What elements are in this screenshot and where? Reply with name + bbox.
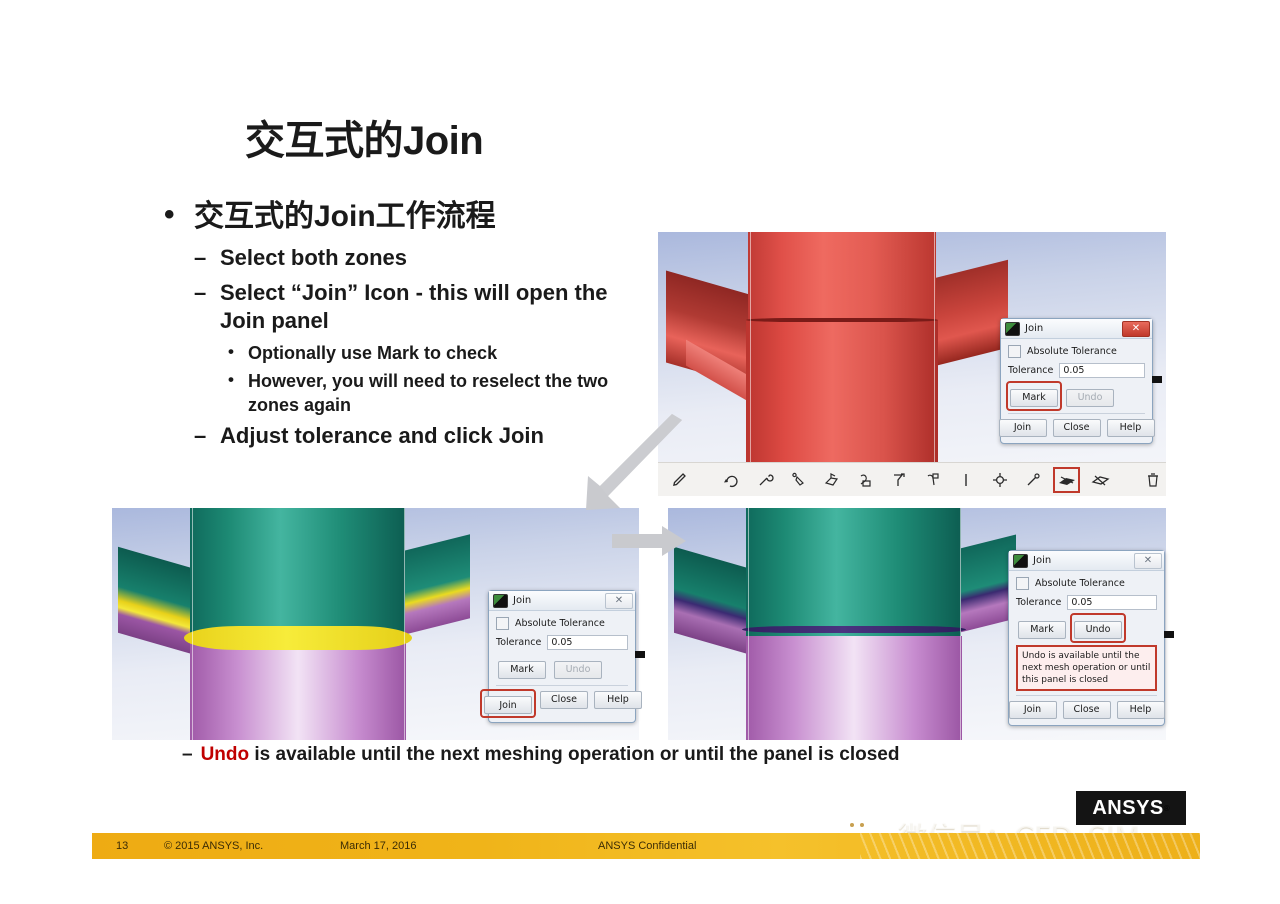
- dialog-footer: Join Close Help: [1016, 701, 1157, 720]
- dialog-body: Absolute Tolerance Tolerance 0.05 Mark U…: [1001, 339, 1152, 443]
- bullet-text: However, you will need to reselect the t…: [248, 371, 608, 414]
- bullet-level2: – Adjust tolerance and click Join: [158, 422, 658, 450]
- undo-button-wrap: Undo: [1064, 383, 1116, 409]
- dialog-body: Absolute Tolerance Tolerance 0.05 Mark U…: [1009, 571, 1164, 725]
- bullet-marker: –: [194, 422, 206, 450]
- page-number: 13: [116, 840, 128, 852]
- part-interface-seam: [746, 318, 938, 322]
- wrench-icon[interactable]: [753, 468, 778, 492]
- bullet-text: Select both zones: [220, 245, 407, 270]
- part-joined-seam: [742, 626, 966, 633]
- dialog-title-bar[interactable]: Join ✕: [1009, 551, 1164, 571]
- part-edge: [960, 508, 961, 740]
- bullet-level3: • However, you will need to reselect the…: [158, 370, 658, 417]
- tolerance-input[interactable]: 0.05: [1059, 363, 1145, 378]
- absolute-tolerance-row[interactable]: Absolute Tolerance: [1008, 345, 1145, 358]
- page-title: 交互式的Join: [245, 108, 483, 166]
- ansys-logo-text: ANSYS: [1092, 797, 1163, 820]
- absolute-tolerance-checkbox[interactable]: [1008, 345, 1021, 358]
- mark-button[interactable]: Mark: [498, 661, 546, 679]
- divider: [496, 685, 628, 686]
- absolute-tolerance-label: Absolute Tolerance: [515, 618, 605, 629]
- part-edge: [934, 232, 935, 464]
- join-button[interactable]: Join: [999, 419, 1047, 437]
- footer-bar: 13 © 2015 ANSYS, Inc. March 17, 2016 ANS…: [92, 833, 1200, 859]
- copyright-text: © 2015 ANSYS, Inc.: [164, 840, 263, 852]
- trash-icon[interactable]: [1141, 468, 1166, 492]
- swap-face-icon[interactable]: [820, 468, 845, 492]
- undo-button: Undo: [554, 661, 602, 679]
- app-icon: [493, 594, 508, 608]
- bullet-text: Select “Join” Icon - this will open the …: [220, 280, 608, 333]
- bullet-level2: – Select both zones: [158, 244, 658, 272]
- join-button[interactable]: Join: [484, 696, 532, 714]
- dialog-footer: Join Close Help: [496, 691, 628, 718]
- divider: [1008, 413, 1145, 414]
- dialog-footer: Join Close Help: [1008, 419, 1145, 438]
- mark-button[interactable]: Mark: [1018, 621, 1066, 639]
- confidentiality-text: ANSYS Confidential: [598, 840, 696, 852]
- part-shaft-lower: [746, 320, 938, 470]
- bullet-text: Optionally use Mark to check: [248, 343, 497, 363]
- bullet-marker: •: [228, 369, 234, 391]
- tolerance-row[interactable]: Tolerance 0.05: [1008, 363, 1145, 378]
- dialog-title-bar[interactable]: Join ✕: [489, 591, 635, 611]
- tolerance-input[interactable]: 0.05: [1067, 595, 1157, 610]
- join-button[interactable]: Join: [1009, 701, 1057, 719]
- close-button[interactable]: Close: [1053, 419, 1101, 437]
- split-face-icon[interactable]: [887, 468, 912, 492]
- help-button[interactable]: Help: [1117, 701, 1165, 719]
- app-icon: [1013, 554, 1028, 568]
- registered-mark: ®: [1164, 804, 1170, 813]
- separator-icon: [953, 468, 978, 492]
- dialog-title: Join: [513, 595, 605, 606]
- date-text: March 17, 2016: [340, 840, 416, 852]
- mark-button-wrap: Mark: [1016, 615, 1068, 641]
- dialog-title-bar[interactable]: Join ✕: [1001, 319, 1152, 339]
- tolerance-input[interactable]: 0.05: [547, 635, 628, 650]
- part-zone-lower: [746, 636, 962, 740]
- presentation-slide: 交互式的Join • 交互式的Join工作流程 – Select both zo…: [0, 0, 1280, 904]
- rotate-icon[interactable]: [719, 468, 744, 492]
- dialog-body: Absolute Tolerance Tolerance 0.05 Mark U…: [489, 611, 635, 722]
- part-edge: [192, 508, 193, 740]
- undo-button[interactable]: Undo: [1074, 621, 1122, 639]
- arrow-down-left-icon: [586, 414, 690, 512]
- close-icon[interactable]: ✕: [605, 593, 633, 609]
- undo-button-highlight: Undo: [1072, 615, 1124, 641]
- part-zone-lower: [190, 636, 406, 740]
- mesh-edit-toolbar[interactable]: [658, 462, 1166, 496]
- mark-button-wrap: Mark: [496, 655, 548, 681]
- arrow-right-icon: [612, 526, 686, 562]
- smooth-node-icon[interactable]: [786, 468, 811, 492]
- part-marked-band: [184, 626, 412, 650]
- join-icon[interactable]: [1054, 468, 1079, 492]
- bullet-text: 交互式的Join工作流程: [194, 200, 496, 233]
- mark-undo-row: Mark Undo: [496, 655, 628, 681]
- mark-button-highlight: Mark: [1008, 383, 1060, 409]
- project-node-icon[interactable]: [1020, 468, 1045, 492]
- undo-button: Undo: [1066, 389, 1114, 407]
- caption-text: is available until the next meshing oper…: [249, 744, 899, 765]
- intersect-icon[interactable]: [1087, 468, 1112, 492]
- app-icon: [1005, 322, 1020, 336]
- tolerance-label: Tolerance: [1016, 597, 1061, 608]
- bullet-level2: – Select “Join” Icon - this will open th…: [158, 279, 658, 335]
- target-icon[interactable]: [987, 468, 1012, 492]
- divider: [1016, 695, 1157, 696]
- absolute-tolerance-row[interactable]: Absolute Tolerance: [1016, 577, 1157, 590]
- undo-button-wrap: Undo: [552, 655, 604, 681]
- dialog-dock-handle[interactable]: [1152, 376, 1162, 383]
- close-icon[interactable]: ✕: [1122, 321, 1150, 337]
- bullet-marker: •: [164, 198, 175, 232]
- dialog-dock-handle[interactable]: [1164, 631, 1174, 638]
- bullet-marker: –: [194, 279, 206, 307]
- join-dialog-mark-step[interactable]: Join ✕ Absolute Tolerance Tolerance 0.05…: [1000, 318, 1153, 444]
- mark-button[interactable]: Mark: [1010, 389, 1058, 407]
- bullet-marker: •: [228, 341, 234, 363]
- join-dialog-join-step[interactable]: Join ✕ Absolute Tolerance Tolerance 0.05…: [488, 590, 636, 723]
- join-button-highlight: Join: [482, 691, 534, 717]
- mark-undo-row: Mark Undo: [1016, 615, 1157, 641]
- absolute-tolerance-label: Absolute Tolerance: [1027, 346, 1117, 357]
- help-button[interactable]: Help: [594, 691, 642, 709]
- ansys-logo: ANSYS®: [1076, 791, 1186, 825]
- close-button[interactable]: Close: [1063, 701, 1111, 719]
- help-button[interactable]: Help: [1107, 419, 1155, 437]
- absolute-tolerance-label: Absolute Tolerance: [1035, 578, 1125, 589]
- bullet-level1: • 交互式的Join工作流程: [158, 200, 658, 234]
- collapse-edge-icon[interactable]: [853, 468, 878, 492]
- caption-marker: –: [182, 744, 193, 765]
- dialog-dock-handle[interactable]: [635, 651, 645, 658]
- slide-caption: –Undo is available until the next meshin…: [182, 744, 899, 766]
- bullet-marker: –: [194, 244, 206, 272]
- close-icon[interactable]: ✕: [1134, 553, 1162, 569]
- undo-tooltip: Undo is available until the next mesh op…: [1016, 645, 1157, 691]
- tolerance-row[interactable]: Tolerance 0.05: [496, 635, 628, 650]
- part-zone-upper: [746, 508, 961, 638]
- bullet-level3: • Optionally use Mark to check: [158, 342, 658, 365]
- part-edge: [750, 232, 751, 464]
- close-button[interactable]: Close: [540, 691, 588, 709]
- part-edge: [404, 508, 405, 740]
- absolute-tolerance-checkbox[interactable]: [496, 617, 509, 630]
- caption-highlight: Undo: [201, 744, 250, 765]
- bullet-list: • 交互式的Join工作流程 – Select both zones – Sel…: [158, 200, 658, 457]
- part-flange-right: [926, 260, 1008, 368]
- tolerance-label: Tolerance: [496, 637, 541, 648]
- tolerance-row[interactable]: Tolerance 0.05: [1016, 595, 1157, 610]
- tolerance-label: Tolerance: [1008, 365, 1053, 376]
- join-dialog-undo-step[interactable]: Join ✕ Absolute Tolerance Tolerance 0.05…: [1008, 550, 1165, 726]
- part-zone-upper: [190, 508, 405, 638]
- dialog-title: Join: [1033, 555, 1134, 566]
- dialog-title: Join: [1025, 323, 1122, 334]
- absolute-tolerance-checkbox[interactable]: [1016, 577, 1029, 590]
- absolute-tolerance-row[interactable]: Absolute Tolerance: [496, 617, 628, 630]
- mark-undo-row: Mark Undo: [1008, 383, 1145, 409]
- merge-node-icon[interactable]: [920, 468, 945, 492]
- part-edge: [748, 508, 749, 740]
- bullet-text: Adjust tolerance and click Join: [220, 423, 544, 448]
